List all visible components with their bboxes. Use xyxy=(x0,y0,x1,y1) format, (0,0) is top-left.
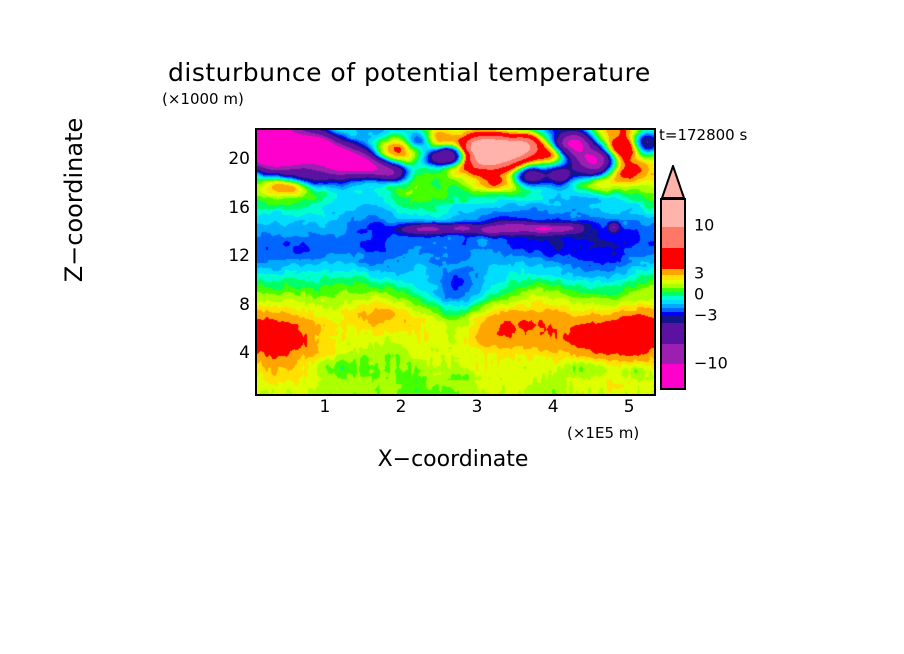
y-tick-label: 16 xyxy=(210,198,250,218)
x-axis-title: X−coordinate xyxy=(293,447,613,472)
colorbar-band xyxy=(662,200,684,227)
y-axis-unit-label: (×1000 m) xyxy=(162,90,244,108)
colorbar-band xyxy=(662,269,684,276)
colorbar-tick-label: 10 xyxy=(694,216,714,235)
colorbar: 1030−3−10 xyxy=(660,165,780,395)
temperature-disturbance-field xyxy=(257,130,654,394)
y-axis-ticks: 48121620 xyxy=(208,128,250,392)
colorbar-tick-label: 3 xyxy=(694,264,704,283)
x-axis-unit-label: (×1E5 m) xyxy=(567,424,639,442)
colorbar-tick-label: 0 xyxy=(694,285,704,304)
y-tick-label: 8 xyxy=(210,295,250,315)
x-tick-label: 4 xyxy=(533,397,573,417)
y-tick-label: 4 xyxy=(210,343,250,363)
colorbar-bands xyxy=(660,198,686,390)
page-title: disturbunce of potential temperature xyxy=(168,58,748,87)
x-axis-ticks: 12345 xyxy=(255,397,652,421)
colorbar-tick-label: −3 xyxy=(694,305,718,324)
colorbar-band xyxy=(662,344,684,365)
colorbar-extend-arrow-icon xyxy=(660,165,686,199)
y-tick-label: 12 xyxy=(210,246,250,266)
x-tick-label: 2 xyxy=(381,397,421,417)
colorbar-tick-label: −10 xyxy=(694,353,728,372)
time-stamp-annotation: t=172800 s xyxy=(659,126,747,144)
figure-canvas: disturbunce of potential temperature (×1… xyxy=(0,0,904,654)
x-tick-label: 5 xyxy=(609,397,649,417)
colorbar-band xyxy=(662,323,684,344)
colorbar-band xyxy=(662,227,684,248)
colorbar-band xyxy=(662,248,684,269)
x-tick-label: 3 xyxy=(457,397,497,417)
colorbar-band xyxy=(662,316,684,323)
colorbar-band xyxy=(662,364,684,390)
x-tick-label: 1 xyxy=(305,397,345,417)
contour-plot-area xyxy=(255,128,656,396)
y-axis-title: Z−coordinate xyxy=(60,70,88,330)
y-tick-label: 20 xyxy=(210,149,250,169)
